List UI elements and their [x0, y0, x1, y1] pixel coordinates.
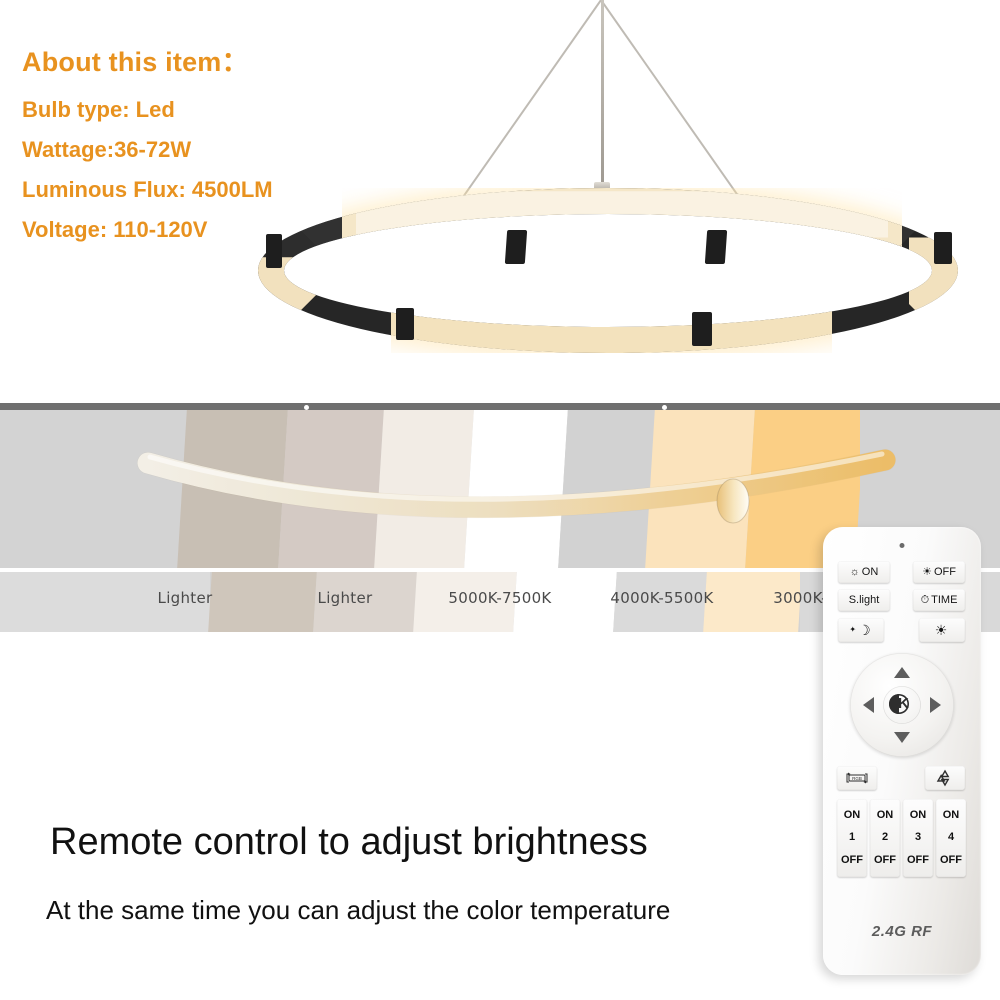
ring-bracket-cap: [934, 232, 952, 264]
channel-on-label: ON: [844, 810, 861, 821]
svg-text:RGB: RGB: [852, 776, 862, 781]
kelvin-letter: K: [898, 696, 909, 712]
channel-2-button[interactable]: ON 2 OFF: [870, 799, 900, 877]
channel-off-label: OFF: [940, 855, 962, 866]
sun-outline-icon: ☼: [850, 567, 860, 578]
color-band: [645, 410, 755, 568]
color-temperature-label: 5000K-7500K: [448, 589, 551, 607]
channel-off-label: OFF: [874, 855, 896, 866]
channel-off-label: OFF: [907, 855, 929, 866]
channel-1-button[interactable]: ON 1 OFF: [837, 799, 867, 877]
arrow-down-icon[interactable]: [894, 732, 910, 743]
subline-text: At the same time you can adjust the colo…: [46, 895, 670, 926]
light-off-label: OFF: [934, 566, 956, 578]
channel-number: 3: [915, 832, 921, 843]
color-band: [464, 410, 568, 568]
rf-brand-label: 2.4G RF: [823, 923, 981, 940]
color-temperature-label: Lighter: [158, 589, 213, 607]
channel-3-button[interactable]: ON 3 OFF: [903, 799, 933, 877]
loop-mode-button[interactable]: [925, 766, 965, 790]
channel-off-label: OFF: [841, 855, 863, 866]
spec-wattage: Wattage:36-72W: [22, 137, 273, 163]
remote-control: ☼ ON ☀ OFF S.light ⏱ TIME ✦ ☽ ☀ K: [823, 527, 981, 975]
rgb-cycle-button[interactable]: RGB: [837, 766, 877, 790]
arrow-up-icon[interactable]: [894, 667, 910, 678]
color-band: [558, 410, 655, 568]
about-this-item-title: About this item：: [22, 40, 273, 79]
spec-bulb-type: Bulb type: Led: [22, 97, 273, 123]
specification-list: About this item： Bulb type: Led Wattage:…: [22, 40, 273, 257]
timer-button[interactable]: ⏱ TIME: [913, 589, 965, 611]
suspension-rod-center: [601, 0, 604, 186]
navigation-pad[interactable]: K: [850, 653, 954, 757]
channel-number: 2: [882, 832, 888, 843]
spec-luminous-flux: Luminous Flux: 4500LM: [22, 177, 273, 203]
timer-label: TIME: [931, 594, 957, 606]
color-temperature-label: Lighter: [318, 589, 373, 607]
ring-bracket-cap: [705, 230, 727, 264]
rgb-cycle-icon: RGB: [845, 770, 869, 786]
arrow-right-icon[interactable]: [930, 697, 941, 713]
ir-emitter-icon: [900, 543, 905, 548]
light-on-label: ON: [862, 566, 879, 578]
channel-number: 4: [948, 832, 954, 843]
channel-4-button[interactable]: ON 4 OFF: [936, 799, 966, 877]
color-band: [374, 410, 474, 568]
suspension-cable-left: [463, 0, 602, 197]
soft-light-label: S.light: [849, 594, 880, 606]
color-band: [0, 410, 182, 568]
light-off-button[interactable]: ☀ OFF: [913, 561, 965, 583]
color-temperature-center-button[interactable]: K: [883, 686, 921, 724]
spec-voltage: Voltage: 110-120V: [22, 217, 273, 243]
recycle-loop-icon: [934, 769, 956, 787]
moon-icon: ☽: [858, 623, 871, 637]
arrow-left-icon[interactable]: [863, 697, 874, 713]
channel-on-label: ON: [877, 810, 894, 821]
sun-brightness-icon: ☀: [935, 623, 948, 637]
ceiling-rail: [0, 403, 1000, 410]
light-on-button[interactable]: ☼ ON: [838, 561, 890, 583]
star-icon: ✦: [849, 626, 856, 634]
soft-light-button[interactable]: S.light: [838, 589, 890, 611]
product-hero-section: About this item： Bulb type: Led Wattage:…: [0, 0, 1000, 400]
color-temperature-label: 4000K-5500K: [610, 589, 713, 607]
kelvin-icon: K: [889, 694, 915, 716]
brightness-mode-button[interactable]: ☀: [919, 618, 965, 642]
chandelier-ring: [258, 188, 958, 353]
suspension-cable-right: [600, 0, 739, 197]
channel-number: 1: [849, 832, 855, 843]
ring-bracket-cap: [505, 230, 527, 264]
night-mode-button[interactable]: ✦ ☽: [838, 618, 884, 642]
headline-text: Remote control to adjust brightness: [50, 821, 648, 864]
ring-bracket-cap: [692, 312, 712, 346]
color-band: [278, 410, 384, 568]
sun-filled-icon: ☀: [922, 567, 932, 578]
clock-icon: ⏱: [921, 595, 930, 606]
channel-on-label: ON: [910, 810, 927, 821]
color-band-lower: [208, 572, 317, 632]
ring-bracket-cap: [396, 308, 414, 340]
channel-on-label: ON: [943, 810, 960, 821]
color-band: [177, 410, 288, 568]
